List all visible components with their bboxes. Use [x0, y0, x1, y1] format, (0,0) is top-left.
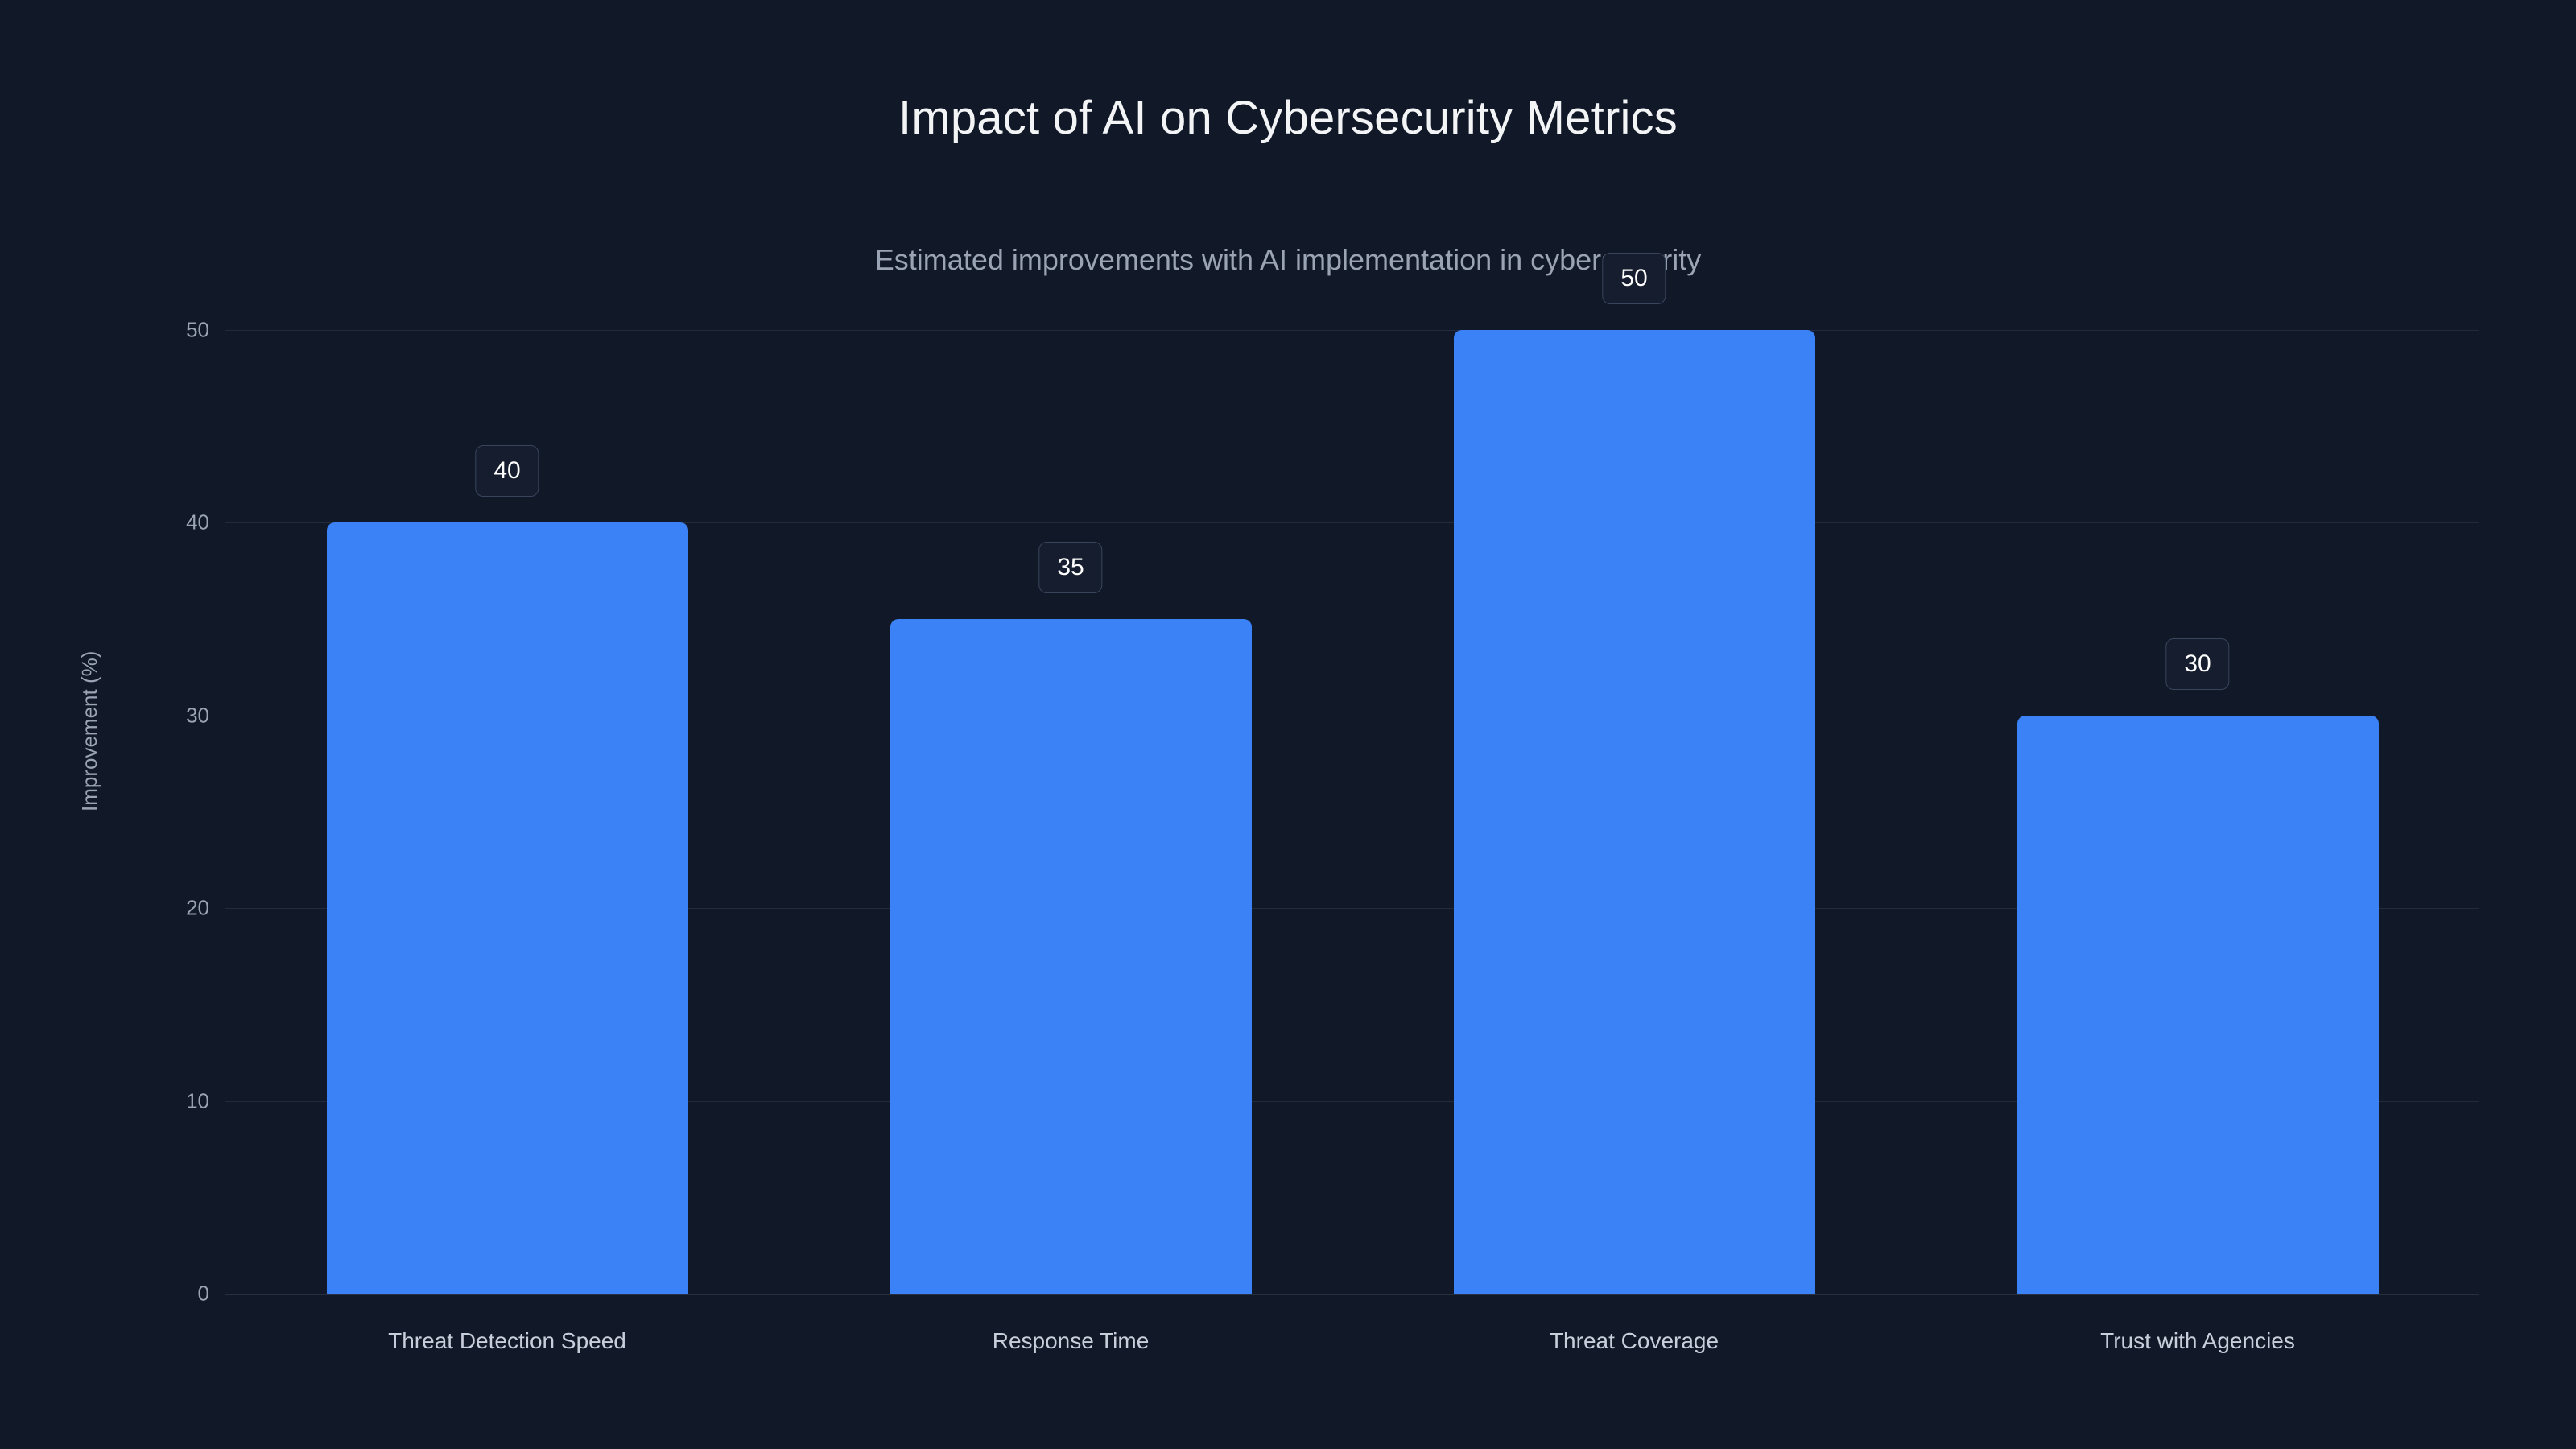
bar[interactable] [2017, 716, 2379, 1294]
x-axis-category-label: Trust with Agencies [2100, 1328, 2295, 1354]
bar-value-badge: 50 [1602, 253, 1666, 304]
bar[interactable] [327, 522, 688, 1294]
x-axis-category-label: Response Time [993, 1328, 1150, 1354]
bar-value-badge: 40 [475, 445, 539, 497]
x-axis-category-label: Threat Detection Speed [388, 1328, 626, 1354]
bar-value-badge: 35 [1038, 542, 1102, 593]
gridline [225, 1294, 2479, 1295]
y-axis-tick-label: 10 [48, 1088, 209, 1113]
gridline [225, 330, 2479, 331]
y-axis-tick-label: 20 [48, 896, 209, 921]
y-axis-tick-label: 30 [48, 703, 209, 728]
bar[interactable] [1454, 330, 1815, 1294]
y-axis-tick-label: 40 [48, 510, 209, 535]
y-axis-title: Improvement (%) [77, 651, 102, 811]
y-axis-tick-label: 50 [48, 318, 209, 343]
y-axis-tick-label: 0 [48, 1282, 209, 1307]
plot-area [225, 330, 2479, 1294]
chart-title: Impact of AI on Cybersecurity Metrics [0, 91, 2576, 145]
chart-canvas: Impact of AI on Cybersecurity Metrics Es… [0, 0, 2576, 1449]
chart-subtitle: Estimated improvements with AI implement… [0, 243, 2576, 277]
x-axis-category-label: Threat Coverage [1550, 1328, 1719, 1354]
bar[interactable] [890, 619, 1252, 1294]
bar-value-badge: 30 [2165, 638, 2229, 690]
